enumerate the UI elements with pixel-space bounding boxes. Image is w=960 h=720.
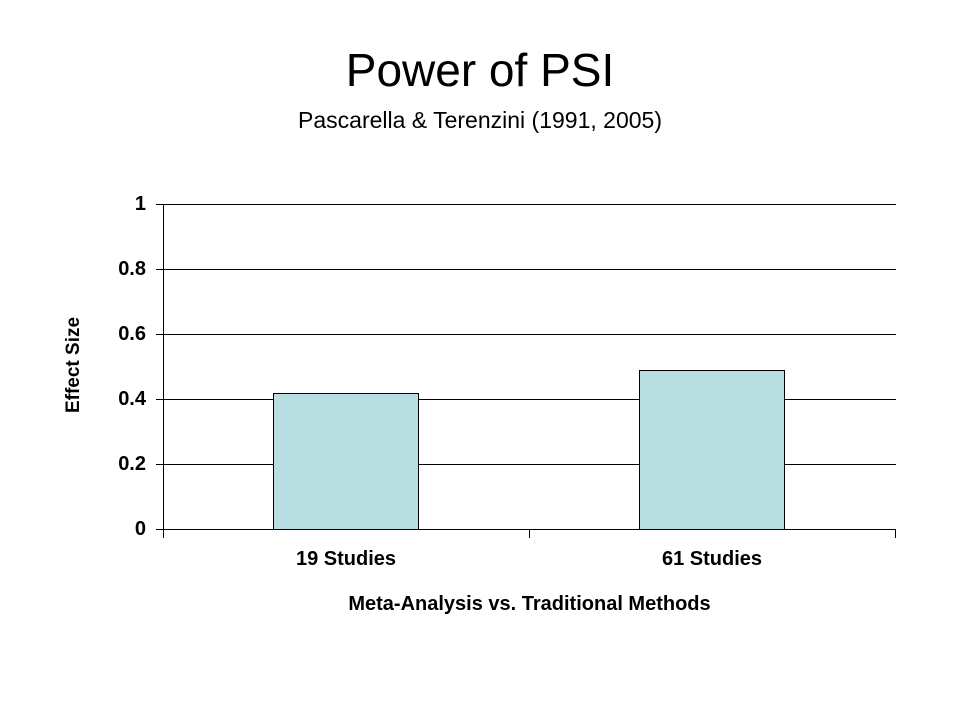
gridline <box>163 269 896 270</box>
y-tick-mark <box>156 464 163 465</box>
y-tick-mark <box>156 529 163 530</box>
gridline <box>163 204 896 205</box>
gridline <box>163 334 896 335</box>
y-tick-mark <box>156 204 163 205</box>
chart-title: Power of PSI <box>0 44 960 96</box>
y-tick-label: 0.6 <box>86 324 146 344</box>
x-axis-title: Meta-Analysis vs. Traditional Methods <box>163 592 896 616</box>
y-tick-label: 0.8 <box>86 259 146 279</box>
y-tick-label: 0.4 <box>86 389 146 409</box>
bar <box>639 370 785 530</box>
y-tick-mark <box>156 334 163 335</box>
y-tick-label: 0.2 <box>86 454 146 474</box>
y-tick-label: 0 <box>86 519 146 539</box>
bar <box>273 393 419 530</box>
x-category-label: 61 Studies <box>529 547 895 571</box>
y-tick-label: 1 <box>86 194 146 214</box>
y-axis-title: Effect Size <box>62 290 86 440</box>
chart-subtitle: Pascarella & Terenzini (1991, 2005) <box>0 106 960 134</box>
bar-chart: Power of PSI Pascarella & Terenzini (199… <box>0 0 960 720</box>
y-tick-mark <box>156 269 163 270</box>
x-tick-mark <box>529 529 530 538</box>
y-axis-title-text: Effect Size <box>63 317 85 413</box>
y-axis-line <box>163 204 164 530</box>
y-tick-mark <box>156 399 163 400</box>
x-category-label: 19 Studies <box>163 547 529 571</box>
x-tick-mark <box>163 529 164 538</box>
x-tick-mark <box>895 529 896 538</box>
